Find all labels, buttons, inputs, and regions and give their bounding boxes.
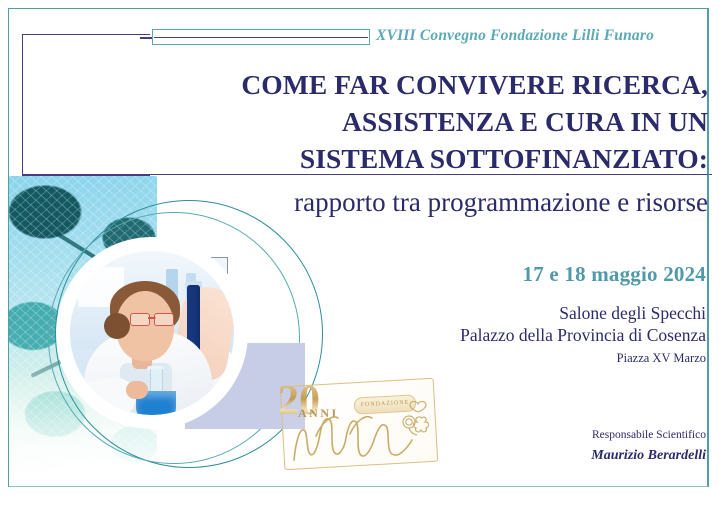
hair-bun [104,313,130,339]
venue-block: Salone degli Specchi Palazzo della Provi… [300,302,706,368]
eyeglasses-icon [130,313,174,324]
purple-corner-frame [22,34,150,176]
page-subtitle: rapporto tra programmazione e risorse [150,185,708,219]
venue-address: Piazza XV Marzo [300,348,706,368]
hand [126,381,148,399]
event-dates: 17 e 18 maggio 2024 [300,262,706,287]
credit-role: Responsabile Scientifico [360,427,706,444]
title-line-1: COME FAR CONVIVERE RICERCA, [150,66,708,103]
venue-building: Palazzo della Provincia di Cosenza [300,324,706,346]
page-title: COME FAR CONVIVERE RICERCA, ASSISTENZA E… [150,66,708,177]
scientist-photo-inner [70,251,234,415]
flask-neck [150,369,163,393]
right-vertical-rule [708,8,709,487]
scientific-director-block: Responsabile Scientifico Maurizio Berard… [360,427,706,466]
conference-poster: 20 ANNI FONDAZIONE XVIII Convegno Fondaz… [0,0,728,517]
venue-hall: Salone degli Specchi [300,302,706,324]
scientist-photo [63,244,241,422]
title-line-2: ASSISTENZA E CURA IN UN [150,103,708,140]
poster-kicker: XVIII Convegno Fondazione Lilli Funaro [376,27,696,45]
credit-name: Maurizio Berardelli [360,446,706,466]
title-line-3: SISTEMA SOTTOFINANZIATO: [150,140,708,177]
header-rule-inner-line [154,37,368,38]
bottom-rule [9,486,708,487]
